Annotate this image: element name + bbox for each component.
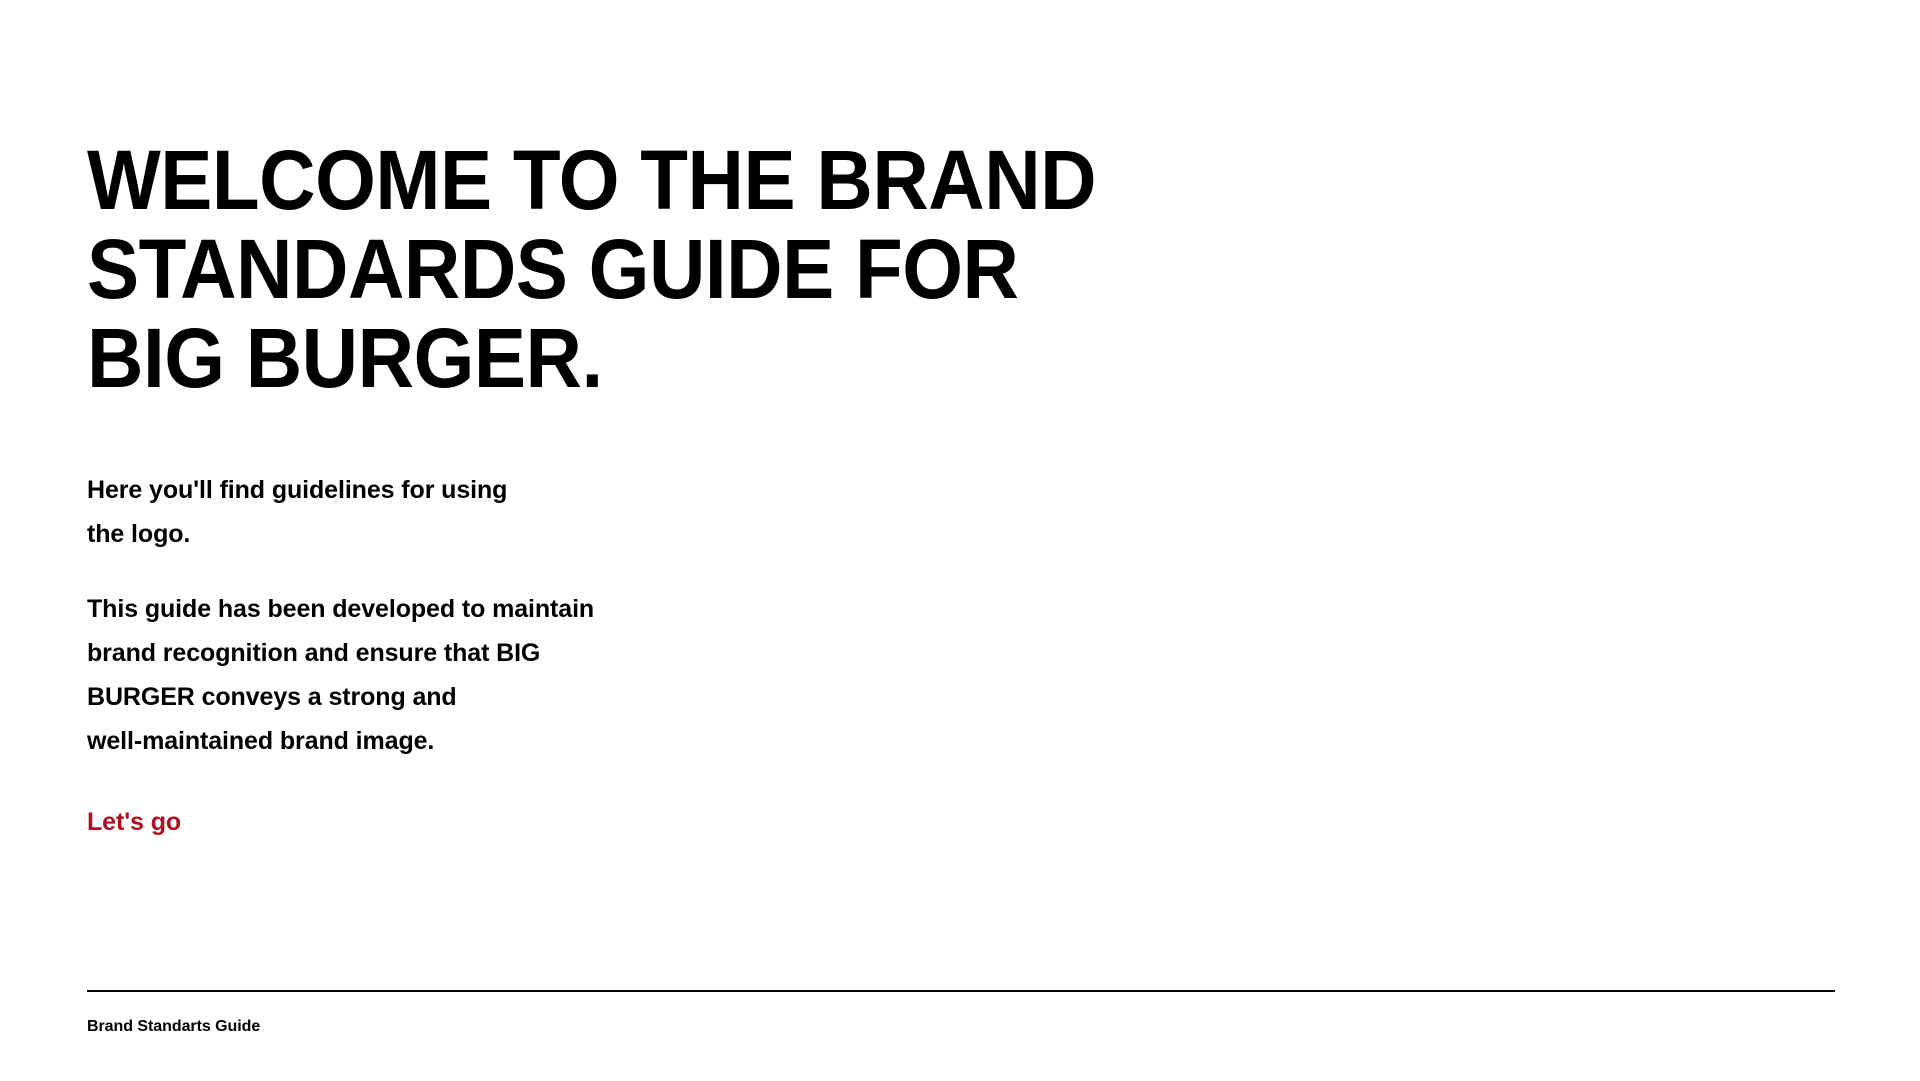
slide-root: WELCOME TO THE BRAND STANDARDS GUIDE FOR… [0,0,1920,1081]
footer-label: Brand Standarts Guide [87,1017,260,1037]
lets-go-link[interactable]: Let's go [87,805,181,839]
body-copy: Here you'll find guidelines for using th… [87,468,907,763]
footer-divider [87,990,1835,992]
cta-container: Let's go [87,805,181,839]
page-title: WELCOME TO THE BRAND STANDARDS GUIDE FOR… [87,136,1110,403]
purpose-paragraph: This guide has been developed to maintai… [87,587,907,763]
intro-paragraph: Here you'll find guidelines for using th… [87,468,907,556]
